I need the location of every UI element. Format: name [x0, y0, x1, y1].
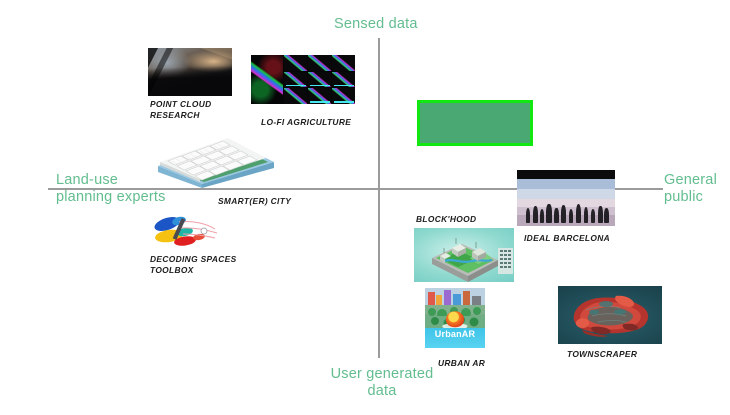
- isometric-city-grid-image: [144, 132, 278, 188]
- quadrant-diagram-canvas: Sensed data User generated data Land-use…: [0, 0, 730, 415]
- projection-room-people-image: [517, 170, 615, 226]
- ideal-barcelona-thumbnail[interactable]: [517, 170, 615, 226]
- point-cloud-research-thumbnail[interactable]: [148, 48, 232, 96]
- multispectral-field-panels-image: [251, 55, 355, 104]
- lo-fi-agriculture-thumbnail[interactable]: [251, 55, 355, 104]
- blockhood-thumbnail[interactable]: [414, 228, 514, 282]
- empty-green-placeholder[interactable]: [417, 100, 533, 146]
- smarter-city-caption: SMART(ER) CITY: [218, 196, 328, 207]
- point-cloud-research-caption: POINT CLOUD RESEARCH: [150, 99, 250, 120]
- urban-ar-logo-banner: UrbanAR: [425, 328, 485, 348]
- ideal-barcelona-caption: IDEAL BARCELONA: [524, 233, 634, 244]
- urban-ar-caption: URBAN AR: [438, 358, 518, 369]
- eco-block-island-image: [414, 228, 514, 282]
- axis-label-user-generated-data: User generated data: [322, 366, 442, 400]
- urban-ar-thumbnail[interactable]: UrbanAR: [425, 288, 485, 348]
- decoding-spaces-toolbox-caption: DECODING SPACES TOOLBOX: [150, 254, 260, 275]
- canyon-point-cloud-image: [148, 48, 232, 96]
- urban-ar-logo-orb: [446, 311, 464, 327]
- axis-label-general-public: General public: [664, 172, 730, 206]
- townscraper-city-image: [558, 286, 662, 344]
- townscraper-thumbnail[interactable]: [558, 286, 662, 344]
- urban-ar-logo-text: UrbanAR: [435, 329, 475, 339]
- urban-ar-app-image: UrbanAR: [425, 288, 485, 348]
- axis-label-sensed-data: Sensed data: [334, 16, 418, 33]
- decoding-spaces-logo-image: [149, 212, 227, 250]
- lo-fi-agriculture-caption: LO-FI AGRICULTURE: [261, 117, 371, 128]
- smarter-city-thumbnail[interactable]: [144, 132, 278, 188]
- vertical-axis-line: [378, 38, 380, 358]
- townscraper-caption: TOWNSCRAPER: [567, 349, 677, 360]
- decoding-spaces-toolbox-thumbnail[interactable]: [149, 212, 227, 250]
- blockhood-caption: BLOCK'HOOD: [416, 214, 526, 225]
